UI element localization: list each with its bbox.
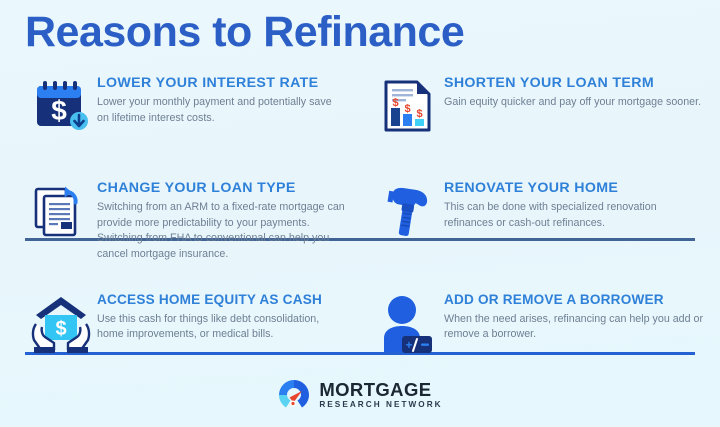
svg-text:$: $	[392, 97, 398, 109]
card-text: SHORTEN YOUR LOAN TERM Gain equity quick…	[444, 75, 720, 163]
card-text: ACCESS HOME EQUITY AS CASH Use this cash…	[97, 292, 360, 367]
card-text: CHANGE YOUR LOAN TYPE Switching from an …	[97, 180, 360, 277]
card-change-loan-type: CHANGE YOUR LOAN TYPE Switching from an …	[0, 180, 360, 277]
card-body: This can be done with specialized renova…	[444, 200, 706, 231]
footer-logo: MORTGAGE RESEARCH NETWORK	[0, 378, 720, 412]
reasons-grid: $ LOWER YOUR INTEREST RATE Lower your mo…	[0, 75, 720, 367]
card-access-home-equity: $ ACCESS HOME EQUITY AS CASH Use this ca…	[0, 292, 360, 367]
stacked-documents-swap-arrow-icon	[25, 180, 97, 277]
infographic-root: Reasons to Refinance $	[0, 0, 720, 427]
card-body: Lower your monthly payment and potential…	[97, 95, 346, 126]
svg-text:+: +	[405, 338, 412, 352]
card-heading: RENOVATE YOUR HOME	[444, 180, 706, 196]
svg-text:$: $	[51, 95, 67, 126]
svg-text:$: $	[404, 103, 410, 115]
card-body: Switching from an ARM to a fixed-rate mo…	[97, 200, 346, 262]
card-body: When the need arises, refinancing can he…	[444, 312, 706, 343]
card-heading: ACCESS HOME EQUITY AS CASH	[97, 292, 346, 308]
card-heading: ADD OR REMOVE A BORROWER	[444, 292, 706, 308]
card-shorten-loan-term: $ $ $ SHORTEN YOUR LOAN TERM Gain equity…	[360, 75, 720, 163]
card-lower-interest-rate: $ LOWER YOUR INTEREST RATE Lower your mo…	[0, 75, 360, 163]
gauge-speedometer-logo-icon	[277, 378, 311, 412]
card-text: RENOVATE YOUR HOME This can be done with…	[444, 180, 720, 277]
logo-main-text: MORTGAGE	[319, 381, 442, 400]
card-body: Gain equity quicker and pay off your mor…	[444, 95, 706, 111]
document-bar-chart-dollar-icon: $ $ $	[372, 75, 444, 163]
card-heading: SHORTEN YOUR LOAN TERM	[444, 75, 706, 91]
calendar-dollar-down-arrow-icon: $	[25, 75, 97, 163]
reasons-row-3: $ ACCESS HOME EQUITY AS CASH Use this ca…	[0, 277, 720, 367]
card-body: Use this cash for things like debt conso…	[97, 312, 346, 343]
reasons-row-1: $ LOWER YOUR INTEREST RATE Lower your mo…	[0, 75, 720, 163]
house-dollar-in-hands-icon: $	[25, 292, 97, 367]
reasons-row-2: CHANGE YOUR LOAN TYPE Switching from an …	[0, 163, 720, 277]
person-plus-minus-icon: +	[372, 292, 444, 367]
svg-text:$: $	[55, 318, 66, 340]
card-heading: LOWER YOUR INTEREST RATE	[97, 75, 346, 91]
logo-text: MORTGAGE RESEARCH NETWORK	[319, 381, 442, 409]
page-title: Reasons to Refinance	[25, 8, 464, 57]
svg-text:$: $	[416, 108, 422, 120]
card-text: LOWER YOUR INTEREST RATE Lower your mont…	[97, 75, 360, 163]
card-text: ADD OR REMOVE A BORROWER When the need a…	[444, 292, 720, 367]
hammer-icon	[372, 180, 444, 277]
card-add-remove-borrower: + ADD OR REMOVE A BORROWER When the need…	[360, 292, 720, 367]
logo-sub-text: RESEARCH NETWORK	[319, 401, 442, 409]
card-heading: CHANGE YOUR LOAN TYPE	[97, 180, 346, 196]
card-renovate-home: RENOVATE YOUR HOME This can be done with…	[360, 180, 720, 277]
